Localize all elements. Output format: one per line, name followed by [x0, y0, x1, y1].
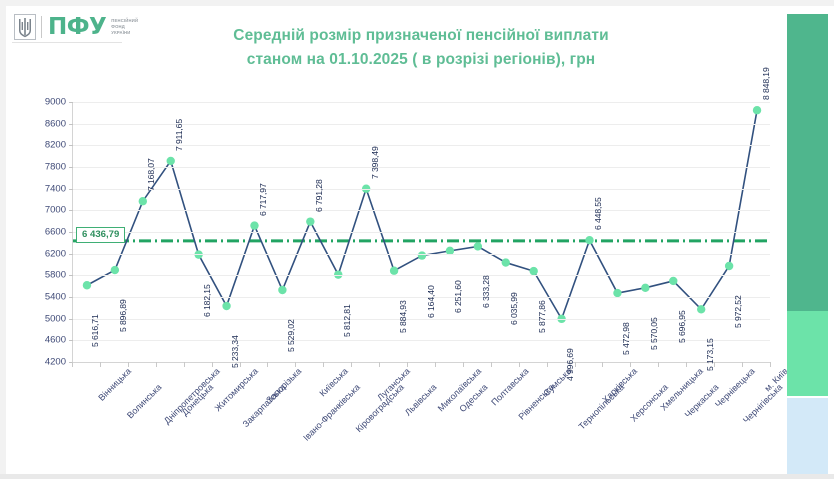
chart-gridline	[73, 189, 770, 190]
logo-underline	[12, 42, 122, 43]
y-axis-tick	[69, 275, 73, 276]
y-axis-tick-label: 6600	[45, 227, 66, 238]
data-point-marker[interactable]	[585, 236, 593, 244]
y-axis-tick	[69, 254, 73, 255]
logo-subtitle-line3: УКРАЇНИ	[111, 30, 138, 36]
y-axis-tick	[69, 167, 73, 168]
rail-segment-light-blue	[787, 398, 828, 474]
data-point-value-label: 6 448,55	[593, 198, 603, 231]
y-axis-tick	[69, 102, 73, 103]
data-point-value-label: 5 696,95	[677, 310, 687, 343]
chart-gridline	[73, 210, 770, 211]
y-axis-tick	[69, 124, 73, 125]
y-axis-tick-label: 8200	[45, 140, 66, 151]
y-axis-tick-label: 7000	[45, 205, 66, 216]
data-point-value-label: 5 812,81	[342, 304, 352, 337]
data-point-marker[interactable]	[167, 157, 175, 165]
data-point-value-label: 5 877,86	[537, 300, 547, 333]
data-point-value-label: 6 251,60	[453, 280, 463, 313]
rail-segment-dark-green	[787, 14, 828, 311]
y-axis-tick	[69, 340, 73, 341]
y-axis-tick-label: 9000	[45, 97, 66, 108]
data-point-marker[interactable]	[222, 302, 230, 310]
data-point-marker[interactable]	[725, 262, 733, 270]
chart-gridline	[73, 340, 770, 341]
y-axis-tick-label: 8600	[45, 118, 66, 129]
series-line	[87, 110, 757, 319]
data-point-value-label: 6 717,97	[258, 183, 268, 216]
y-axis-labels: 4200460050005400580062006600700074007800…	[30, 102, 72, 362]
y-axis-tick-label: 6200	[45, 248, 66, 259]
data-point-value-label: 7 398,49	[370, 146, 380, 179]
x-axis-category-label: Дніпропетровська	[162, 366, 222, 426]
data-point-value-label: 8 848,19	[761, 68, 771, 101]
page-title-line1: Середній розмір призначеної пенсійної ви…	[156, 24, 686, 48]
slide-canvas: ПФУ ПЕНСІЙНИЙ ФОНД УКРАЇНИ Середній розм…	[6, 6, 828, 474]
data-point-marker[interactable]	[278, 286, 286, 294]
chart-plot-area: 4200460050005400580062006600700074007800…	[30, 102, 770, 362]
data-point-marker[interactable]	[669, 277, 677, 285]
data-point-value-label: 5 616,71	[90, 315, 100, 348]
data-point-marker[interactable]	[641, 284, 649, 292]
data-point-value-label: 5 896,89	[118, 299, 128, 332]
data-point-marker[interactable]	[753, 106, 761, 114]
average-value-badge: 6 436,79	[76, 227, 125, 244]
chart-gridline	[73, 319, 770, 320]
data-point-marker[interactable]	[390, 267, 398, 275]
logo-subtitle: ПЕНСІЙНИЙ ФОНД УКРАЇНИ	[111, 18, 138, 36]
data-point-value-label: 6 164,40	[426, 285, 436, 318]
chart-gridline	[73, 232, 770, 233]
page-title: Середній розмір призначеної пенсійної ви…	[156, 24, 686, 72]
frame-bottom-edge	[0, 474, 834, 479]
y-axis-tick-label: 7400	[45, 183, 66, 194]
rail-segment-light-green	[787, 311, 828, 396]
x-axis-line	[72, 362, 770, 363]
data-point-value-label: 6 182,15	[202, 284, 212, 317]
x-axis-category-label: Львівська	[403, 382, 439, 418]
y-axis-tick	[69, 145, 73, 146]
y-axis-tick	[69, 319, 73, 320]
data-point-marker[interactable]	[529, 267, 537, 275]
chart-gridline	[73, 102, 770, 103]
data-point-marker[interactable]	[474, 242, 482, 250]
data-point-value-label: 5 570,05	[649, 317, 659, 350]
data-point-value-label: 5 472,98	[621, 322, 631, 355]
data-point-marker[interactable]	[83, 281, 91, 289]
pfu-logo: ПФУ ПЕНСІЙНИЙ ФОНД УКРАЇНИ	[14, 12, 138, 42]
logo-divider	[41, 16, 42, 38]
x-axis-category-label: Вінницька	[96, 366, 133, 403]
data-point-value-label: 7 168,07	[146, 159, 156, 192]
x-axis-category-label: Івано-Франківська	[302, 382, 363, 443]
y-axis-tick-label: 4600	[45, 335, 66, 346]
data-point-marker[interactable]	[613, 289, 621, 297]
slide-root: ПФУ ПЕНСІЙНИЙ ФОНД УКРАЇНИ Середній розм…	[0, 0, 834, 479]
chart-gridline	[73, 167, 770, 168]
y-axis-tick-label: 5800	[45, 270, 66, 281]
data-point-marker[interactable]	[111, 266, 119, 274]
y-axis-tick-label: 5000	[45, 313, 66, 324]
y-axis-tick	[69, 297, 73, 298]
data-point-value-label: 7 911,65	[174, 119, 184, 151]
data-point-marker[interactable]	[250, 221, 258, 229]
data-point-value-label: 6 035,99	[509, 292, 519, 325]
x-axis-tick	[770, 362, 771, 367]
data-point-value-label: 5 529,02	[286, 319, 296, 352]
x-axis-category-label: Запорізька	[265, 366, 304, 405]
data-point-value-label: 6 791,28	[314, 179, 324, 212]
x-axis-category-label: Чернігівська	[741, 382, 784, 425]
chart-gridline	[73, 275, 770, 276]
x-axis-category-label: Волинська	[125, 382, 163, 420]
y-axis-tick	[69, 210, 73, 211]
data-point-marker[interactable]	[697, 305, 705, 313]
data-point-marker[interactable]	[306, 217, 314, 225]
y-axis-tick	[69, 189, 73, 190]
data-point-value-label: 5 884,93	[398, 300, 408, 333]
chart-gridline	[73, 254, 770, 255]
y-axis-tick-label: 7800	[45, 162, 66, 173]
data-point-marker[interactable]	[502, 258, 510, 266]
y-axis-tick	[69, 232, 73, 233]
ukraine-trident-icon	[14, 14, 36, 40]
y-axis-tick-label: 5400	[45, 292, 66, 303]
x-axis-category-labels: ВінницькаВолинськаДніпропетровськаДонець…	[30, 364, 770, 444]
data-point-value-label: 5 972,52	[733, 295, 743, 328]
x-axis-category-label: Сумська	[541, 366, 573, 398]
x-axis-category-label: Полтавська	[489, 366, 530, 407]
data-point-value-label: 6 333,28	[481, 276, 491, 309]
x-axis-category-label: Харківська	[600, 366, 639, 405]
chart-gridline	[73, 297, 770, 298]
right-color-rail	[787, 6, 828, 474]
data-point-marker[interactable]	[139, 197, 147, 205]
data-point-marker[interactable]	[418, 251, 426, 259]
logo-abbr: ПФУ	[48, 16, 106, 39]
page-title-line2: станом на 01.10.2025 ( в розрізі регіоні…	[156, 48, 686, 72]
